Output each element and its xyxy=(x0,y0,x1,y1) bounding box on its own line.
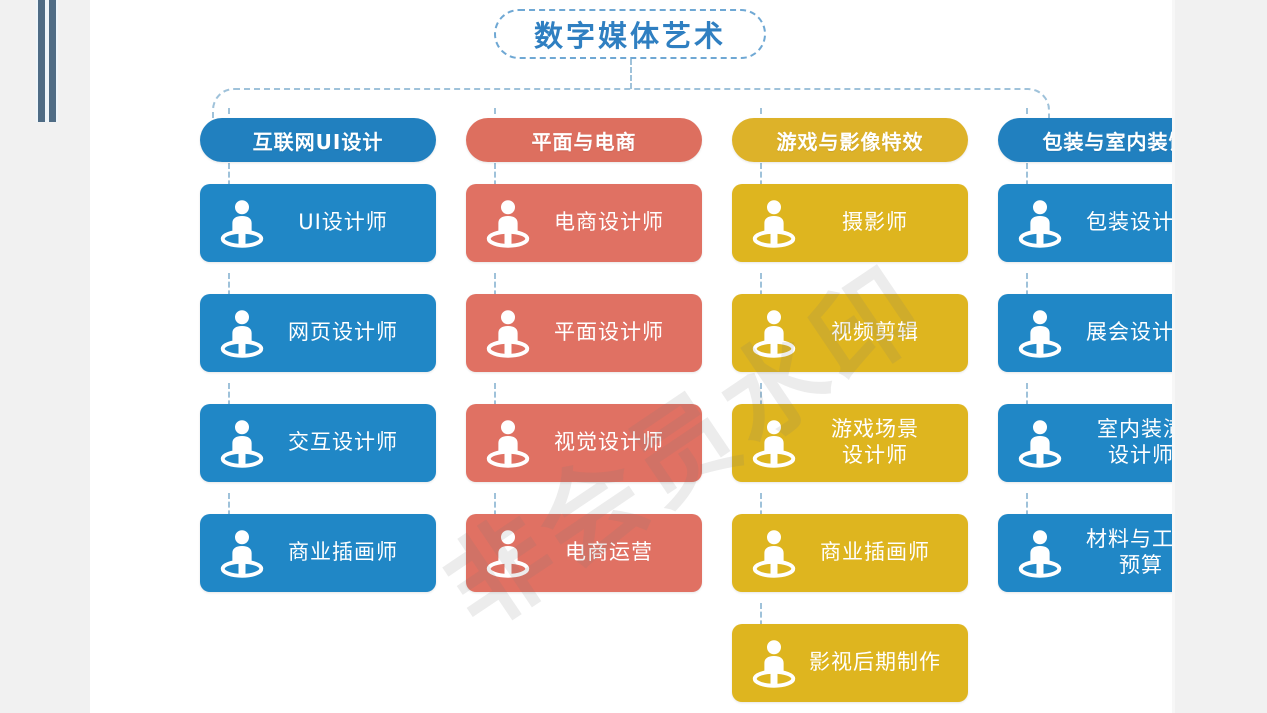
role-card-label: 商业插画师 xyxy=(270,540,422,566)
role-card-label-line1: 游戏场景 xyxy=(831,417,919,441)
content-panel: 非会员水印 数字媒体艺术 互联网UI设计 xyxy=(90,0,1172,713)
role-card[interactable]: 网页设计师 xyxy=(200,294,436,372)
category-header-label: 平面与电商 xyxy=(532,126,637,155)
person-icon xyxy=(1012,415,1068,471)
person-icon xyxy=(214,525,270,581)
role-card-label-line1: 电商运营 xyxy=(565,540,653,564)
panel-right-edge xyxy=(1172,0,1175,713)
role-card-label-line1: 商业插画师 xyxy=(820,540,930,564)
person-icon xyxy=(746,525,802,581)
role-card[interactable]: 包装设计师 xyxy=(998,184,1172,262)
role-card-label-line1: 交互设计师 xyxy=(288,430,398,454)
role-card-label-line2: 设计师 xyxy=(802,443,948,469)
role-card[interactable]: UI设计师 xyxy=(200,184,436,262)
category-header-label: 包装与室内装饰 xyxy=(1043,126,1173,155)
role-card-label: 摄影师 xyxy=(802,210,954,236)
person-icon xyxy=(480,195,536,251)
role-card-label: 网页设计师 xyxy=(270,320,422,346)
role-card-label-line1: 材料与工程 xyxy=(1086,527,1172,551)
role-card[interactable]: 室内装潢设计师 xyxy=(998,404,1172,482)
role-card[interactable]: 影视后期制作 xyxy=(732,624,968,702)
role-card-label: 游戏场景设计师 xyxy=(802,417,954,468)
category-header-pill[interactable]: 包装与室内装饰 xyxy=(998,118,1172,162)
category-column: 互联网UI设计 UI设计师 网页设计师 交互设计师 商业插画师 xyxy=(200,118,436,713)
role-card-label-line1: 平面设计师 xyxy=(554,320,664,344)
role-card-label-line1: 视频剪辑 xyxy=(831,320,919,344)
category-header-pill[interactable]: 互联网UI设计 xyxy=(200,118,436,162)
person-icon xyxy=(480,415,536,471)
role-card[interactable]: 视觉设计师 xyxy=(466,404,702,482)
category-column: 游戏与影像特效 摄影师 视频剪辑 游戏场景设计师 商业插画师 影视后期制作 xyxy=(732,118,968,713)
role-card-label-line1: 摄影师 xyxy=(842,210,908,234)
decorative-bar-1 xyxy=(38,0,45,122)
columns-container: 互联网UI设计 UI设计师 网页设计师 交互设计师 商业插画师平面与电商 电商设… xyxy=(200,118,1172,713)
diagram-title: 数字媒体艺术 xyxy=(494,9,766,59)
diagram-title-label: 数字媒体艺术 xyxy=(534,13,726,55)
role-card-label: UI设计师 xyxy=(270,210,422,236)
person-icon xyxy=(746,195,802,251)
role-card-label: 室内装潢设计师 xyxy=(1068,417,1172,468)
role-card-label: 包装设计师 xyxy=(1068,210,1172,236)
person-icon xyxy=(480,525,536,581)
role-card[interactable]: 材料与工程预算 xyxy=(998,514,1172,592)
role-card-label-line1: 室内装潢 xyxy=(1097,417,1172,441)
category-header-pill[interactable]: 游戏与影像特效 xyxy=(732,118,968,162)
role-card-label: 视觉设计师 xyxy=(536,430,688,456)
person-icon xyxy=(214,195,270,251)
role-card[interactable]: 视频剪辑 xyxy=(732,294,968,372)
category-header-label: 游戏与影像特效 xyxy=(777,126,924,155)
role-card-label-line1: 网页设计师 xyxy=(288,320,398,344)
role-card[interactable]: 电商设计师 xyxy=(466,184,702,262)
role-card[interactable]: 商业插画师 xyxy=(732,514,968,592)
role-card-label: 展会设计师 xyxy=(1068,320,1172,346)
person-icon xyxy=(214,305,270,361)
role-card-label: 电商运营 xyxy=(536,540,688,566)
role-card-label: 影视后期制作 xyxy=(802,650,954,676)
person-icon xyxy=(1012,195,1068,251)
person-icon xyxy=(746,305,802,361)
person-icon xyxy=(214,415,270,471)
role-card[interactable]: 展会设计师 xyxy=(998,294,1172,372)
role-card-label-line2: 预算 xyxy=(1068,553,1172,579)
decorative-bar-2 xyxy=(49,0,56,122)
decorative-left-bars xyxy=(36,0,58,122)
role-card[interactable]: 平面设计师 xyxy=(466,294,702,372)
role-card-label-line1: 影视后期制作 xyxy=(809,650,941,674)
role-card-label-line1: 展会设计师 xyxy=(1086,320,1172,344)
category-header-label: 互联网UI设计 xyxy=(253,126,384,155)
category-column: 包装与室内装饰 包装设计师 展会设计师 室内装潢设计师 材料与工程预算 xyxy=(998,118,1172,713)
person-icon xyxy=(480,305,536,361)
person-icon xyxy=(746,415,802,471)
role-card-label-line2: 设计师 xyxy=(1068,443,1172,469)
role-card-label-line1: 商业插画师 xyxy=(288,540,398,564)
role-card[interactable]: 电商运营 xyxy=(466,514,702,592)
role-card-label-line1: UI设计师 xyxy=(298,210,388,234)
role-card-label: 平面设计师 xyxy=(536,320,688,346)
person-icon xyxy=(1012,305,1068,361)
role-card-label: 视频剪辑 xyxy=(802,320,954,346)
role-card-label-line1: 视觉设计师 xyxy=(554,430,664,454)
role-card[interactable]: 交互设计师 xyxy=(200,404,436,482)
role-card-label-line1: 包装设计师 xyxy=(1086,210,1172,234)
role-card[interactable]: 商业插画师 xyxy=(200,514,436,592)
person-icon xyxy=(1012,525,1068,581)
role-card-label: 电商设计师 xyxy=(536,210,688,236)
person-icon xyxy=(746,635,802,691)
category-header-pill[interactable]: 平面与电商 xyxy=(466,118,702,162)
slide-canvas: 非会员水印 数字媒体艺术 互联网UI设计 xyxy=(0,0,1267,713)
role-card-label-line1: 电商设计师 xyxy=(554,210,664,234)
role-card-label: 商业插画师 xyxy=(802,540,954,566)
category-column: 平面与电商 电商设计师 平面设计师 视觉设计师 电商运营 xyxy=(466,118,702,713)
connector-title-to-bracket xyxy=(630,59,632,89)
role-card[interactable]: 游戏场景设计师 xyxy=(732,404,968,482)
role-card-label: 交互设计师 xyxy=(270,430,422,456)
role-card[interactable]: 摄影师 xyxy=(732,184,968,262)
role-card-label: 材料与工程预算 xyxy=(1068,527,1172,578)
